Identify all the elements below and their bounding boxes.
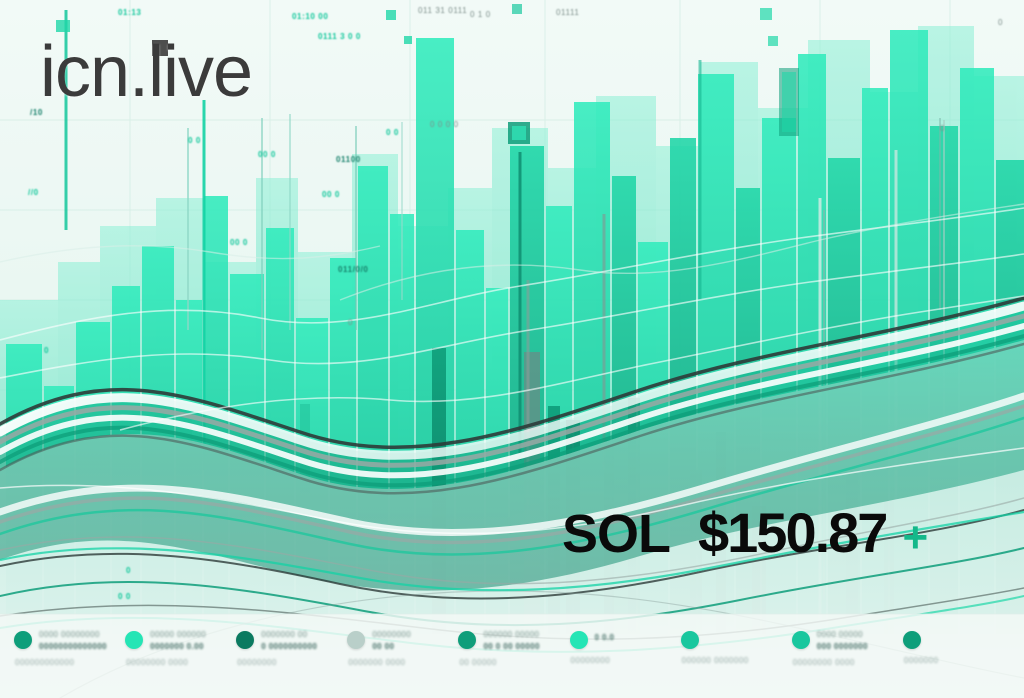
ticker-symbol: SOL <box>562 503 670 565</box>
legend-caption: 000000000000 <box>14 658 74 667</box>
legend-item-lines: 0 0.0 <box>595 630 671 642</box>
banner-canvas: 01:1301:10 000111 3 0 0011 31 01110 1 00… <box>0 0 1024 698</box>
legend-dot-icon <box>903 631 921 649</box>
legend-dot-icon <box>570 631 588 649</box>
legend-item-lines: 0000 0000000000000000000000 <box>39 630 115 651</box>
logo-text-live: live <box>148 32 252 112</box>
ticker-price: $150.87 <box>698 500 886 565</box>
legend-item-header <box>903 630 1004 649</box>
legend-caption: 00000000 <box>236 658 277 667</box>
legend-dot-icon <box>792 631 810 649</box>
legend-item[interactable]: 0000000000 000000000 0000 <box>347 630 458 667</box>
legend-dot-icon <box>125 631 143 649</box>
legend-item-header: 0000000000 00 <box>347 630 448 651</box>
legend-caption: 00 00000 <box>458 658 496 667</box>
legend-dot-icon <box>347 631 365 649</box>
micro-label: 00 0 <box>230 238 248 247</box>
micro-label: 01:10 00 <box>292 12 328 21</box>
micro-label: 0 0 0 0 <box>430 120 459 129</box>
micro-label: 0 0 <box>386 128 399 137</box>
legend-caption: 0000000 0000 <box>347 658 405 667</box>
micro-label: 0 <box>44 346 49 355</box>
legend-dot-icon <box>236 631 254 649</box>
micro-label: 00 0 <box>258 150 276 159</box>
legend-line-secondary: 00000000000000 <box>39 642 115 651</box>
legend-item-lines <box>928 630 1004 633</box>
legend-line-secondary: 0 0.0 <box>595 633 671 642</box>
logo-dot: . <box>129 32 148 112</box>
micro-label: 011 31 0111 <box>418 6 467 15</box>
legend-line-primary: 000000 00000 <box>483 630 559 639</box>
legend-item-lines: 0000000000 00 <box>372 630 448 651</box>
legend-caption: 00000000 0000 <box>792 658 855 667</box>
legend-item-lines: 0000000 000 0000000000 <box>261 630 337 651</box>
legend-line-primary: 0000 00000 <box>817 630 893 639</box>
legend-line-secondary: 0 0000000000 <box>261 642 337 651</box>
legend-caption: 0000000 <box>903 656 939 665</box>
legend-item-lines: 00000 0000000000000 0.00 <box>150 630 226 651</box>
micro-label: 00 0 <box>322 190 340 199</box>
legend-line-secondary: 00 0 00 00000 <box>483 642 559 651</box>
legend-item[interactable]: 0 0.000000000 <box>570 630 681 665</box>
legend-item-header: 0000 00000000 0000000 <box>792 630 893 651</box>
legend-item-header: 0 0.0 <box>570 630 671 649</box>
legend-item-header: 000000 0000000 0 00 00000 <box>458 630 559 651</box>
legend-dot-icon <box>458 631 476 649</box>
legend-item-lines: 0000 00000000 0000000 <box>817 630 893 651</box>
micro-label: 0 <box>940 124 945 133</box>
micro-label: 0 1 0 <box>470 10 491 19</box>
legend-line-primary: 00000 000000 <box>150 630 226 639</box>
ticker-change-indicator: + <box>902 516 928 560</box>
legend-line-primary: 0000000 00 <box>261 630 337 639</box>
legend-item[interactable]: 0000000 <box>903 630 1014 665</box>
micro-label: 0 0 <box>118 592 131 601</box>
micro-label: //0 <box>28 188 39 197</box>
micro-label: 011/0/0 <box>338 265 368 274</box>
legend-line-secondary: 0000000 0.00 <box>150 642 226 651</box>
legend-item-lines: 000000 0000000 0 00 00000 <box>483 630 559 651</box>
legend-item-header: 0000000 000 0000000000 <box>236 630 337 651</box>
legend-caption: 000000 0000000 <box>681 656 749 665</box>
legend-caption: 00000000 <box>570 656 611 665</box>
legend-item[interactable]: 0000 0000000000000000000000000000000000 <box>14 630 125 667</box>
micro-label: 0 <box>348 318 353 327</box>
brand-logo[interactable]: icn.live <box>40 36 252 108</box>
legend-dot-icon <box>14 631 32 649</box>
legend-item[interactable]: 00000 0000000000000 0.0000000000 0000 <box>125 630 236 667</box>
legend-line-secondary: 00 00 <box>372 642 448 651</box>
legend-line-primary: 00000000 <box>372 630 448 639</box>
legend-strip: 0000 00000000000000000000000000000000000… <box>0 614 1024 698</box>
legend-item-header: 0000 0000000000000000000000 <box>14 630 115 651</box>
legend-item-header <box>681 630 782 649</box>
legend-item[interactable]: 0000000 000 000000000000000000 <box>236 630 347 667</box>
legend-item[interactable]: 000000 0000000 0 00 0000000 00000 <box>458 630 569 667</box>
legend-item[interactable]: 000000 0000000 <box>681 630 792 665</box>
micro-label: 0 <box>126 566 131 575</box>
legend-dot-icon <box>681 631 699 649</box>
legend-line-secondary: 000 0000000 <box>817 642 893 651</box>
micro-label: 01111 <box>556 8 579 17</box>
logo-text-icn: icn <box>40 32 129 112</box>
micro-label: 0 0 <box>188 136 201 145</box>
micro-label: 01:13 <box>118 8 141 17</box>
legend-item[interactable]: 0000 00000000 000000000000000 0000 <box>792 630 903 667</box>
legend-line-primary: 0000 00000000 <box>39 630 115 639</box>
micro-label: 01100 <box>336 155 361 164</box>
legend-caption: 00000000 0000 <box>125 658 188 667</box>
legend-item-lines <box>706 630 782 633</box>
micro-label: 0111 3 0 0 <box>318 32 361 41</box>
legend-item-header: 00000 0000000000000 0.00 <box>125 630 226 651</box>
price-ticker: SOL $150.87 + <box>562 500 928 565</box>
micro-label: 0 <box>998 18 1003 27</box>
